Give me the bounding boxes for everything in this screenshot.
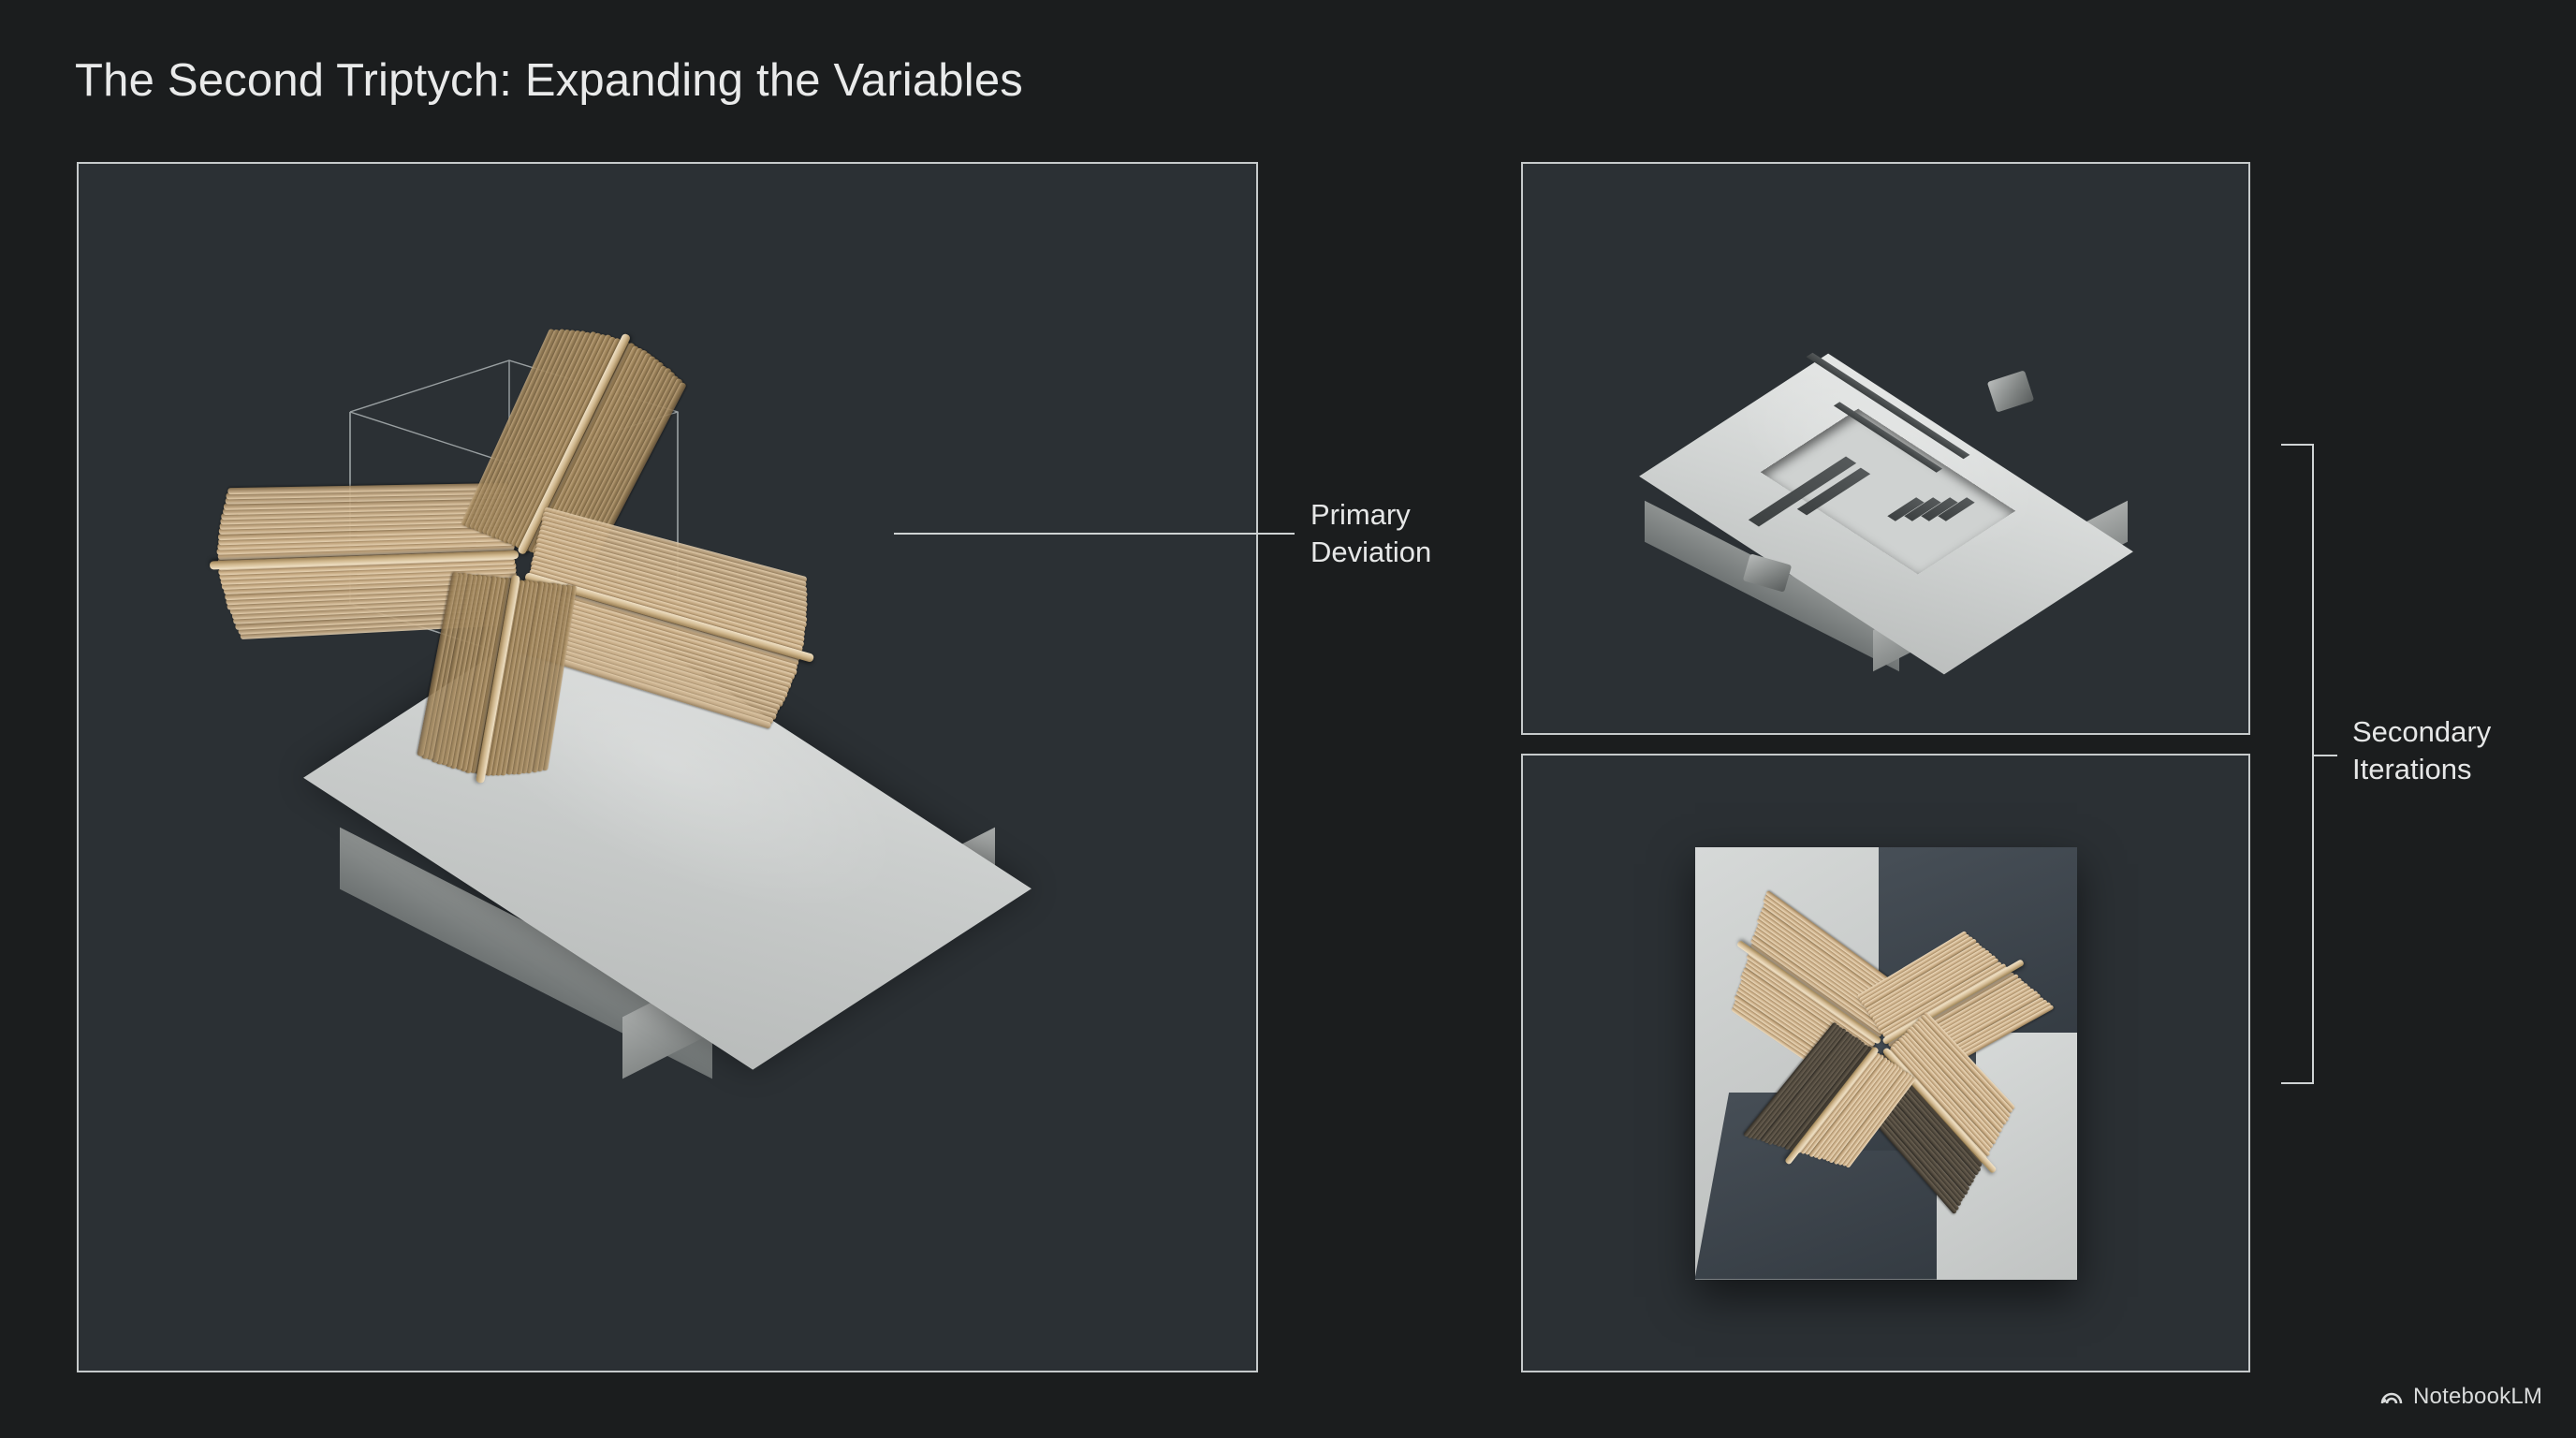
bracket-tick-bottom [2281,1082,2314,1084]
excavated-slab-render [1523,164,2248,733]
secondary-model-panel-2[interactable] [1521,754,2250,1372]
primary-deviation-label-line1: Primary [1310,496,1431,534]
rubble-fragment-right [1986,370,2033,412]
plan-view-render [1523,756,2248,1371]
bracket-tick-top [2281,444,2314,446]
bracket-vertical-line [2312,444,2314,1084]
slide-canvas: The Second Triptych: Expanding the Varia… [0,0,2576,1438]
primary-deviation-leader-line [894,533,1295,535]
primary-model-render [79,164,1256,1371]
page-title: The Second Triptych: Expanding the Varia… [75,54,1023,107]
secondary-model-panel-1[interactable] [1521,162,2250,735]
primary-deviation-label-line2: Deviation [1310,534,1431,571]
secondary-iterations-label-line1: Secondary [2352,713,2491,751]
notebooklm-watermark: NotebookLM [2379,1384,2542,1410]
primary-model-panel[interactable] [77,162,1258,1372]
primary-deviation-label: Primary Deviation [1310,496,1431,570]
notebooklm-spiral-icon [2379,1385,2404,1409]
secondary-iterations-label-line2: Iterations [2352,751,2491,788]
notebooklm-watermark-text: NotebookLM [2413,1384,2542,1410]
secondary-iterations-label: Secondary Iterations [2352,713,2491,787]
plan-base-board [1695,847,2077,1280]
bracket-tick-middle [2313,755,2337,756]
secondary-iterations-bracket [2281,444,2337,1084]
